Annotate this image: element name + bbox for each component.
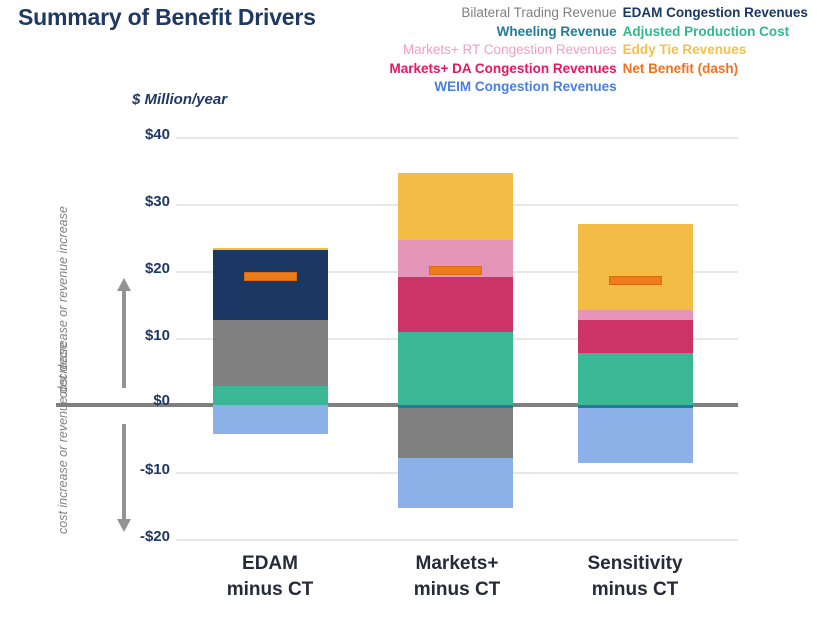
bar-segment-bilateral-trading-revenue[interactable]: [398, 408, 513, 458]
net-benefit-dash-marker: [244, 272, 297, 281]
bar-segment-adjusted-production-cost[interactable]: [578, 353, 693, 405]
x-axis-label-edam-line1: EDAM: [170, 551, 370, 577]
bar-segment-bilateral-trading-revenue[interactable]: [213, 320, 328, 386]
annotation-negative-line1: cost increase or: [56, 446, 70, 534]
bar-group-1[interactable]: [213, 0, 328, 620]
y-axis-tick-10: $10: [110, 327, 170, 344]
y-axis-tick-30: $30: [110, 193, 170, 210]
annotation-negative-direction: cost increase or revenue decrease: [56, 418, 71, 534]
bar-segment-edam-congestion-revenues[interactable]: [213, 250, 328, 320]
bar-segment-eddy-tie-revenues[interactable]: [398, 173, 513, 240]
net-benefit-dash-marker: [429, 266, 482, 275]
bar-segment-adjusted-production-cost[interactable]: [213, 386, 328, 405]
bar-segment-eddy-tie-revenues[interactable]: [578, 224, 693, 310]
bar-segment-markets-rt-congestion-revenues[interactable]: [578, 310, 693, 320]
bar-segment-weim-congestion-revenues[interactable]: [578, 408, 693, 464]
bar-segment-markets-da-congestion-revenues[interactable]: [578, 320, 693, 354]
y-axis-tick-0: $0: [110, 392, 170, 409]
x-axis-label-markets-line1: Markets+: [357, 551, 557, 577]
bar-segment-weim-congestion-revenues[interactable]: [398, 458, 513, 508]
annotation-positive-line2: revenue increase: [56, 206, 70, 302]
arrow-down-shaft: [122, 424, 126, 522]
x-axis-label-edam-line2: minus CT: [170, 577, 370, 603]
x-axis-label-markets-line2: minus CT: [357, 577, 557, 603]
x-axis-label-sensitivity-line2: minus CT: [535, 577, 735, 603]
bar-segment-markets-da-congestion-revenues[interactable]: [398, 277, 513, 332]
bar-group-2[interactable]: [398, 0, 513, 620]
net-benefit-dash-marker: [609, 276, 662, 285]
x-axis-label-edam: EDAM minus CT: [170, 551, 370, 603]
bar-group-3[interactable]: [578, 0, 693, 620]
bar-segment-eddy-tie-revenues[interactable]: [213, 248, 328, 250]
y-axis-tick-20: $20: [110, 260, 170, 277]
annotation-negative-line2: revenue decrease: [56, 342, 70, 442]
y-axis-tick-40: $40: [110, 126, 170, 143]
x-axis-label-markets: Markets+ minus CT: [357, 551, 557, 603]
y-axis-tick-minus-10: -$10: [110, 461, 170, 478]
arrow-up-icon: [117, 278, 131, 291]
x-axis-label-sensitivity: Sensitivity minus CT: [535, 551, 735, 603]
bar-segment-adjusted-production-cost[interactable]: [398, 332, 513, 405]
arrow-up-shaft: [122, 290, 126, 388]
bar-segment-weim-congestion-revenues[interactable]: [213, 405, 328, 434]
x-axis-label-sensitivity-line1: Sensitivity: [535, 551, 735, 577]
chart-plot-area: $40 $30 $20 $10 $0 -$10 -$20 cost decrea…: [0, 0, 826, 620]
arrow-down-icon: [117, 519, 131, 532]
